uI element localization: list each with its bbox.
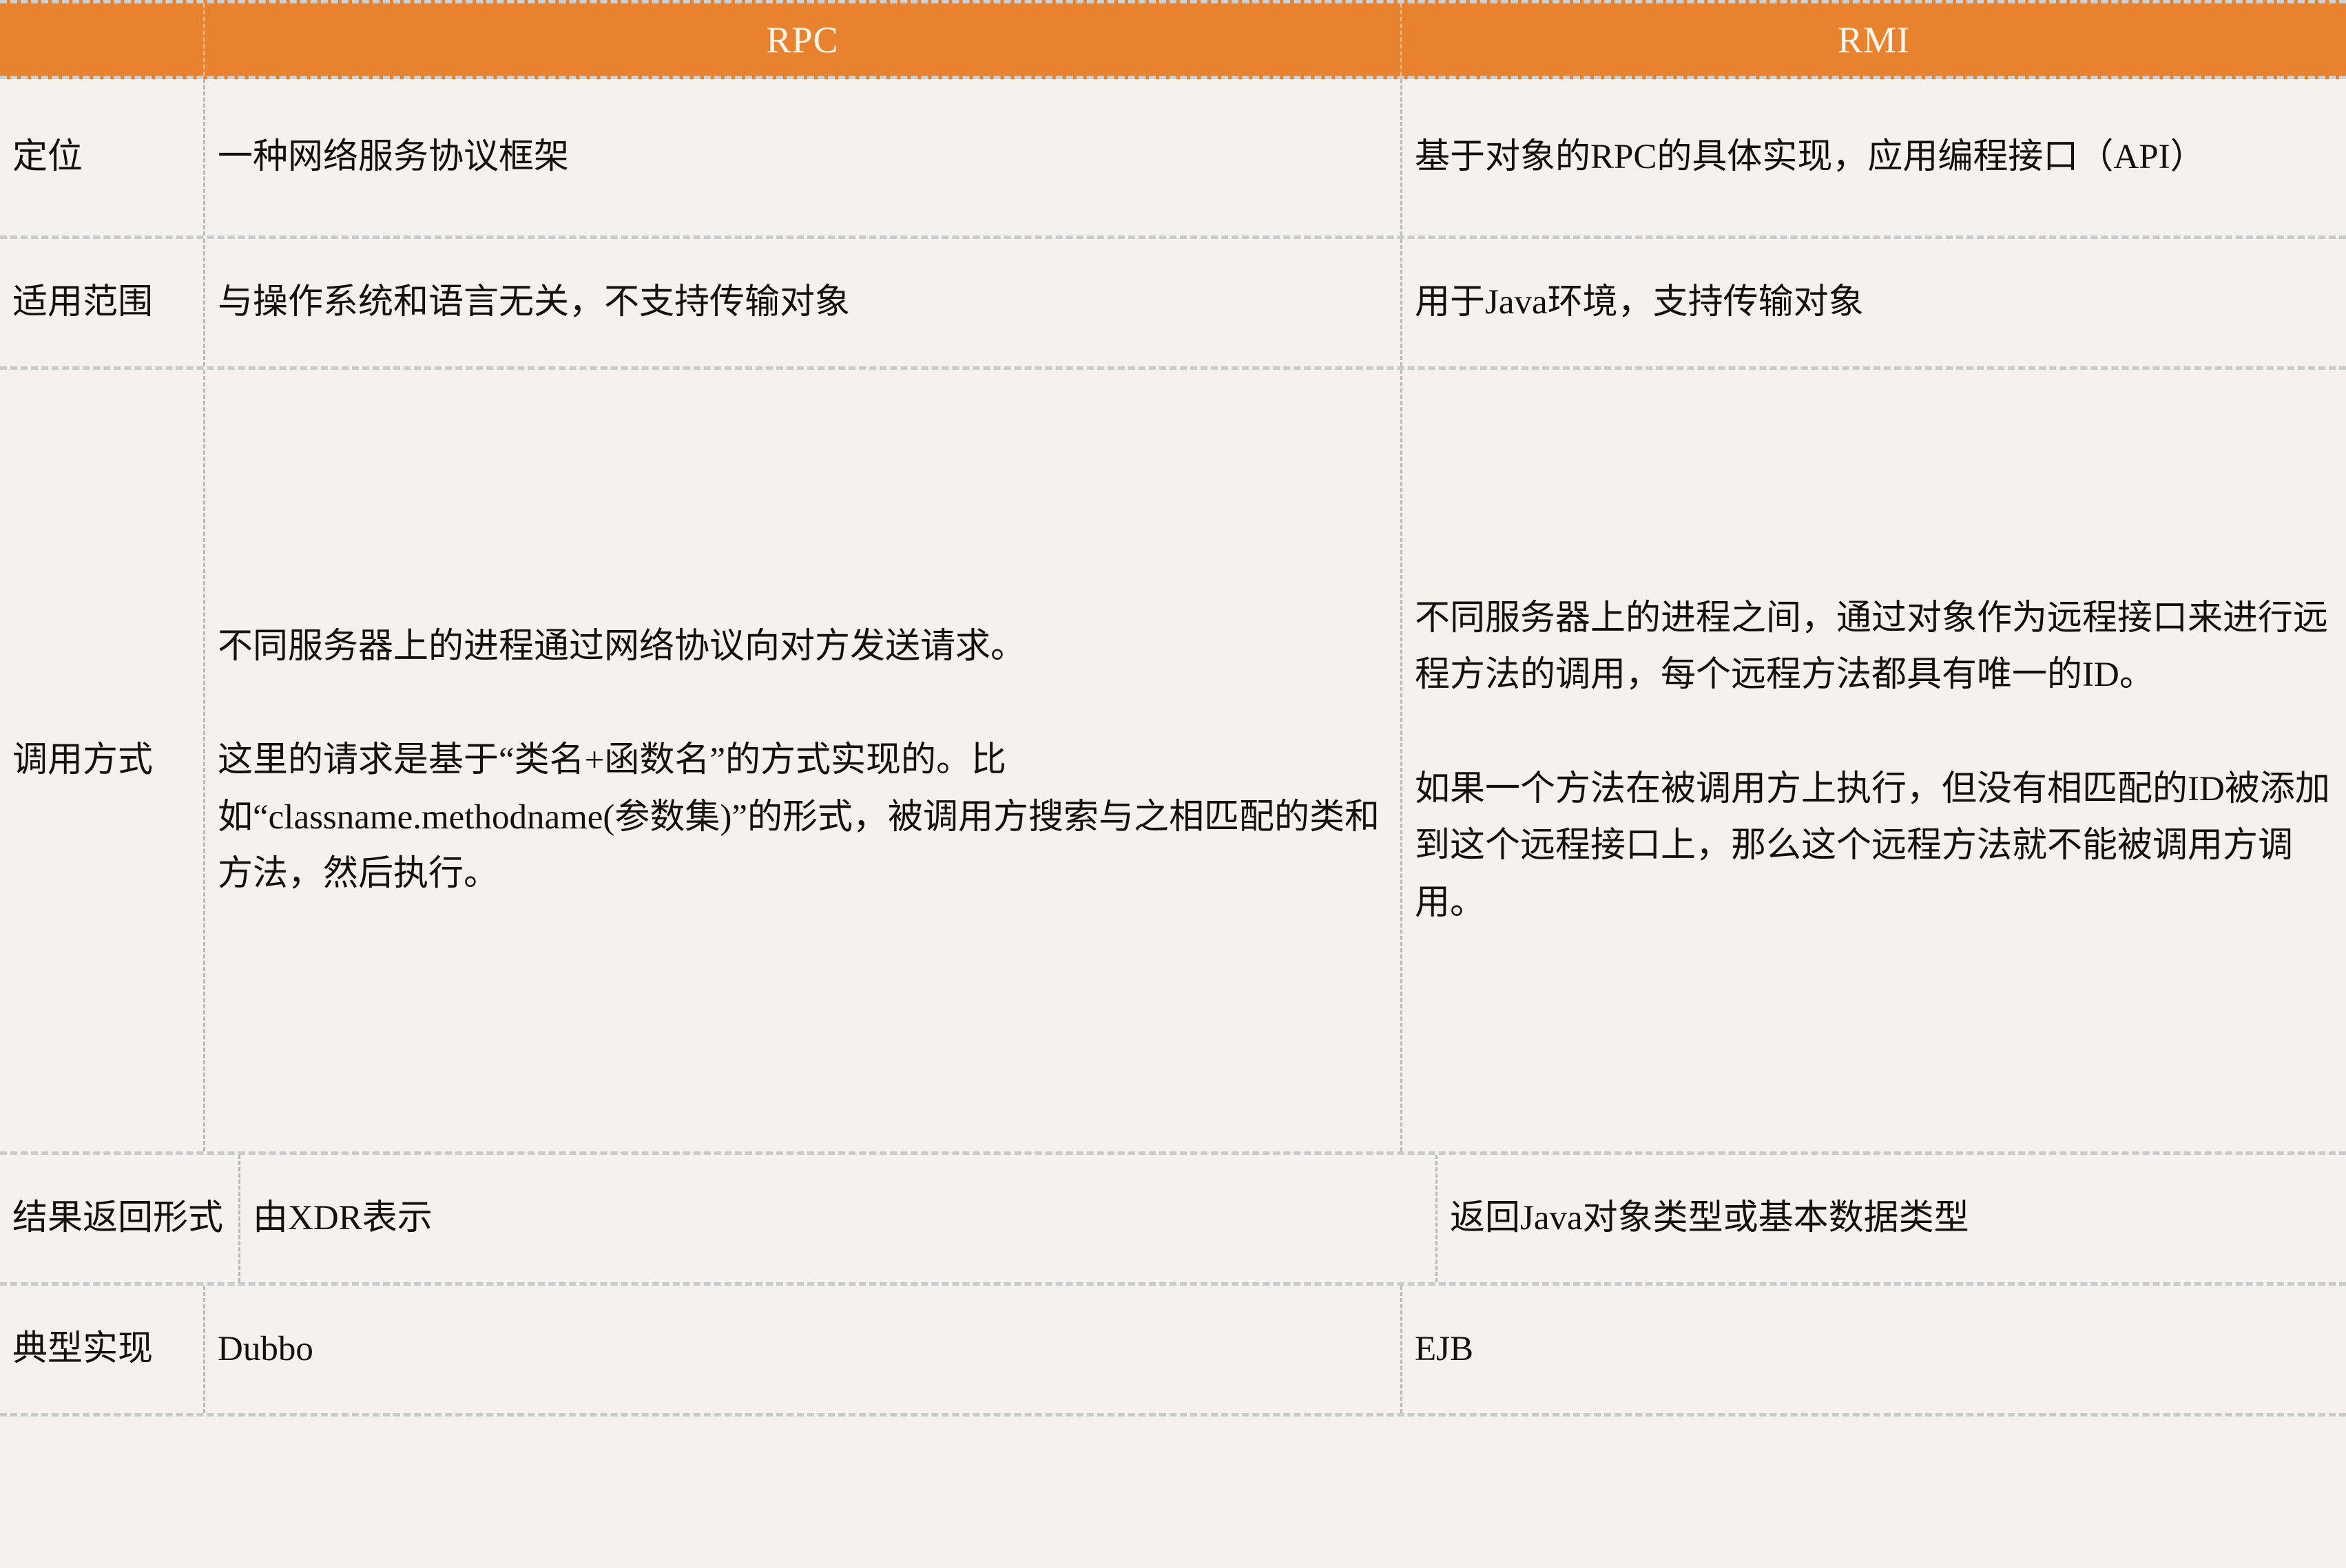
row-rmi-cell: 不同服务器上的进程之间，通过对象作为远程接口来进行远程方法的调用，每个远程方法都…: [1400, 370, 2346, 1151]
row-label-cell: 调用方式: [0, 370, 203, 1151]
row-rpc-cell: Dubbo: [203, 1286, 1400, 1413]
table-row: 适用范围 与操作系统和语言无关，不支持传输对象 用于Java环境，支持传输对象: [0, 239, 2346, 370]
row-label: 典型实现: [12, 1321, 188, 1378]
cell-paragraph: 不同服务器上的进程之间，通过对象作为远程接口来进行远程方法的调用，每个远程方法都…: [1415, 590, 2331, 704]
row-rpc-cell: 不同服务器上的进程通过网络协议向对方发送请求。 这里的请求是基于“类名+函数名”…: [203, 370, 1400, 1151]
table-row: 结果返回形式 由XDR表示 返回Java对象类型或基本数据类型: [0, 1155, 2346, 1286]
row-label-cell: 典型实现: [0, 1286, 203, 1413]
header-cell-rpc: RPC: [203, 3, 1400, 76]
row-rmi-cell: 基于对象的RPC的具体实现，应用编程接口（API）: [1400, 79, 2346, 236]
cell-paragraph: 一种网络服务协议框架: [218, 129, 1385, 186]
table-row: 定位 一种网络服务协议框架 基于对象的RPC的具体实现，应用编程接口（API）: [0, 79, 2346, 239]
row-rmi-cell: EJB: [1400, 1286, 2346, 1413]
cell-paragraph: EJB: [1415, 1321, 2331, 1378]
row-label: 调用方式: [12, 732, 188, 789]
table-row: 调用方式 不同服务器上的进程通过网络协议向对方发送请求。 这里的请求是基于“类名…: [0, 370, 2346, 1155]
row-rpc-cell: 一种网络服务协议框架: [203, 79, 1400, 236]
cell-paragraph: 基于对象的RPC的具体实现，应用编程接口（API）: [1415, 129, 2331, 186]
cell-paragraph: 如果一个方法在被调用方上执行，但没有相匹配的ID被添加到这个远程接口上，那么这个…: [1415, 761, 2331, 932]
cell-paragraph: 返回Java对象类型或基本数据类型: [1450, 1190, 2331, 1247]
row-rmi-cell: 用于Java环境，支持传输对象: [1400, 239, 2346, 366]
row-label: 适用范围: [12, 274, 188, 331]
table-header-row: RPC RMI: [0, 0, 2346, 79]
cell-paragraph: 由XDR表示: [253, 1190, 1420, 1247]
row-rpc-cell: 与操作系统和语言无关，不支持传输对象: [203, 239, 1400, 366]
cell-paragraph: 这里的请求是基于“类名+函数名”的方式实现的。比如“classname.meth…: [218, 732, 1385, 903]
row-label-cell: 适用范围: [0, 239, 203, 366]
cell-paragraph: Dubbo: [218, 1321, 1385, 1378]
row-label-cell: 定位: [0, 79, 203, 236]
cell-paragraph: 用于Java环境，支持传输对象: [1415, 274, 2331, 331]
row-label: 定位: [12, 129, 188, 186]
cell-paragraph: 与操作系统和语言无关，不支持传输对象: [218, 274, 1385, 331]
row-rmi-cell: 返回Java对象类型或基本数据类型: [1435, 1155, 2346, 1282]
row-label: 结果返回形式: [12, 1190, 223, 1247]
header-cell-rmi: RMI: [1400, 3, 2346, 76]
cell-paragraph: 不同服务器上的进程通过网络协议向对方发送请求。: [218, 618, 1385, 676]
header-cell-attribute: [0, 3, 203, 76]
row-label-cell: 结果返回形式: [0, 1155, 238, 1282]
row-rpc-cell: 由XDR表示: [238, 1155, 1435, 1282]
rpc-rmi-comparison-table: RPC RMI 定位 一种网络服务协议框架 基于对象的RPC的具体实现，应用编程…: [0, 0, 2346, 1568]
table-row: 典型实现 Dubbo EJB: [0, 1286, 2346, 1417]
